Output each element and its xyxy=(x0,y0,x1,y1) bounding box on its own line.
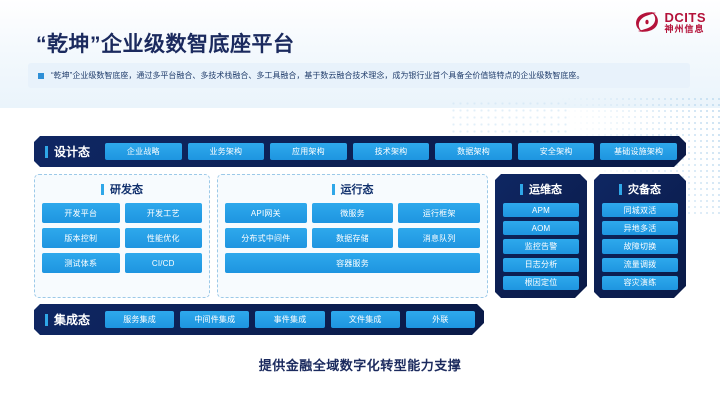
design-chip-enterprise-strategy[interactable]: 企业战略 xyxy=(105,143,182,160)
dev-chip-version-control[interactable]: 版本控制 xyxy=(42,228,120,248)
runtime-chip-data-storage[interactable]: 数据存储 xyxy=(312,228,394,248)
dev-chip-cicd[interactable]: CI/CD xyxy=(125,253,203,273)
ops-chip-aom[interactable]: AOM xyxy=(503,221,579,235)
design-chip-business-architecture[interactable]: 业务架构 xyxy=(188,143,265,160)
accent-tick-icon xyxy=(45,146,48,158)
integration-state-row: 集成态 服务集成 中间件集成 事件集成 文件集成 外联 xyxy=(34,304,484,335)
runtime-state-label-text: 运行态 xyxy=(341,181,374,197)
runtime-chip-distributed-middleware[interactable]: 分布式中间件 xyxy=(225,228,307,248)
accent-tick-icon xyxy=(619,184,622,195)
design-chip-infrastructure-architecture[interactable]: 基础设施架构 xyxy=(600,143,677,160)
runtime-chip-runtime-framework[interactable]: 运行框架 xyxy=(398,203,480,223)
integration-state-label-text: 集成态 xyxy=(54,311,90,328)
integration-chip-external-connection[interactable]: 外联 xyxy=(406,311,475,328)
runtime-chip-message-queue[interactable]: 消息队列 xyxy=(398,228,480,248)
disaster-recovery-state-label: 灾备态 xyxy=(602,181,678,197)
accent-tick-icon xyxy=(45,314,48,326)
runtime-state-label: 运行态 xyxy=(225,181,480,197)
dev-chip-dev-platform[interactable]: 开发平台 xyxy=(42,203,120,223)
integration-state-label: 集成态 xyxy=(45,311,90,328)
ops-chip-monitoring-alert[interactable]: 监控告警 xyxy=(503,239,579,253)
runtime-chip-api-gateway[interactable]: API网关 xyxy=(225,203,307,223)
dev-chip-performance-optimization[interactable]: 性能优化 xyxy=(125,228,203,248)
ops-chip-log-analysis[interactable]: 日志分析 xyxy=(503,258,579,272)
design-chip-security-architecture[interactable]: 安全架构 xyxy=(518,143,595,160)
brand-logo-text: DCITS 神州信息 xyxy=(665,11,707,34)
design-chip-application-architecture[interactable]: 应用架构 xyxy=(270,143,347,160)
design-chip-data-architecture[interactable]: 数据架构 xyxy=(435,143,512,160)
architecture-board: 设计态 企业战略 业务架构 应用架构 技术架构 数据架构 安全架构 基础设施架构… xyxy=(34,136,686,341)
middle-zone: 研发态 开发平台 开发工艺 版本控制 性能优化 测试体系 CI/CD 运行态 xyxy=(34,174,686,298)
page-title: “乾坤”企业级数智底座平台 xyxy=(36,28,295,58)
accent-tick-icon xyxy=(332,184,335,195)
dr-chip-traffic-scheduling[interactable]: 流量调拨 xyxy=(602,258,678,272)
design-state-row: 设计态 企业战略 业务架构 应用架构 技术架构 数据架构 安全架构 基础设施架构 xyxy=(34,136,686,167)
dev-chip-dev-process[interactable]: 开发工艺 xyxy=(125,203,203,223)
dev-state-card: 研发态 开发平台 开发工艺 版本控制 性能优化 测试体系 CI/CD xyxy=(34,174,210,298)
integration-chip-event-integration[interactable]: 事件集成 xyxy=(255,311,324,328)
integration-chip-file-integration[interactable]: 文件集成 xyxy=(331,311,400,328)
dr-chip-dr-drill[interactable]: 容灾演练 xyxy=(602,276,678,290)
dcits-swirl-icon xyxy=(634,10,660,34)
dev-chip-test-system[interactable]: 测试体系 xyxy=(42,253,120,273)
dev-chip-grid: 开发平台 开发工艺 版本控制 性能优化 测试体系 CI/CD xyxy=(42,203,202,273)
ops-chip-root-cause-location[interactable]: 根因定位 xyxy=(503,276,579,290)
integration-chip-service-integration[interactable]: 服务集成 xyxy=(105,311,174,328)
subtitle-text: “乾坤”企业级数智底座，通过多平台融合、多技术栈融合、多工具融合，基于数云融合技… xyxy=(51,71,584,81)
ops-state-label-text: 运维态 xyxy=(529,181,562,197)
footer-caption: 提供金融全域数字化转型能力支撑 xyxy=(0,355,720,374)
disaster-recovery-state-label-text: 灾备态 xyxy=(628,181,661,197)
runtime-state-card: 运行态 API网关 微服务 运行框架 分布式中间件 数据存储 消息队列 容器服务 xyxy=(217,174,488,298)
runtime-chip-microservice[interactable]: 微服务 xyxy=(312,203,394,223)
slide-canvas: DCITS 神州信息 “乾坤”企业级数智底座平台 “乾坤”企业级数智底座，通过多… xyxy=(0,0,720,405)
runtime-chip-container-service[interactable]: 容器服务 xyxy=(225,253,480,273)
integration-chip-middleware-integration[interactable]: 中间件集成 xyxy=(180,311,249,328)
accent-tick-icon xyxy=(520,184,523,195)
dr-chip-failover[interactable]: 故障切换 xyxy=(602,239,678,253)
brand-logo: DCITS 神州信息 xyxy=(634,10,707,34)
brand-name-cn: 神州信息 xyxy=(665,25,707,34)
subtitle-band: “乾坤”企业级数智底座，通过多平台融合、多技术栈融合、多工具融合，基于数云融合技… xyxy=(28,63,690,88)
ops-state-label: 运维态 xyxy=(503,181,579,197)
dr-chip-same-city-active-active[interactable]: 同城双活 xyxy=(602,203,678,217)
brand-name-en: DCITS xyxy=(665,11,707,24)
square-bullet-icon xyxy=(38,73,44,79)
design-state-label: 设计态 xyxy=(45,143,90,160)
ops-state-column: 运维态 APM AOM 监控告警 日志分析 根因定位 xyxy=(495,174,587,298)
ops-chip-apm[interactable]: APM xyxy=(503,203,579,217)
dr-chip-remote-multi-active[interactable]: 异地多活 xyxy=(602,221,678,235)
design-state-label-text: 设计态 xyxy=(54,143,90,160)
disaster-recovery-state-column: 灾备态 同城双活 异地多活 故障切换 流量调拨 容灾演练 xyxy=(594,174,686,298)
design-chip-technical-architecture[interactable]: 技术架构 xyxy=(353,143,430,160)
dev-state-label: 研发态 xyxy=(42,181,202,197)
dev-state-label-text: 研发态 xyxy=(110,181,143,197)
runtime-chip-grid: API网关 微服务 运行框架 分布式中间件 数据存储 消息队列 xyxy=(225,203,480,248)
accent-tick-icon xyxy=(101,184,104,195)
